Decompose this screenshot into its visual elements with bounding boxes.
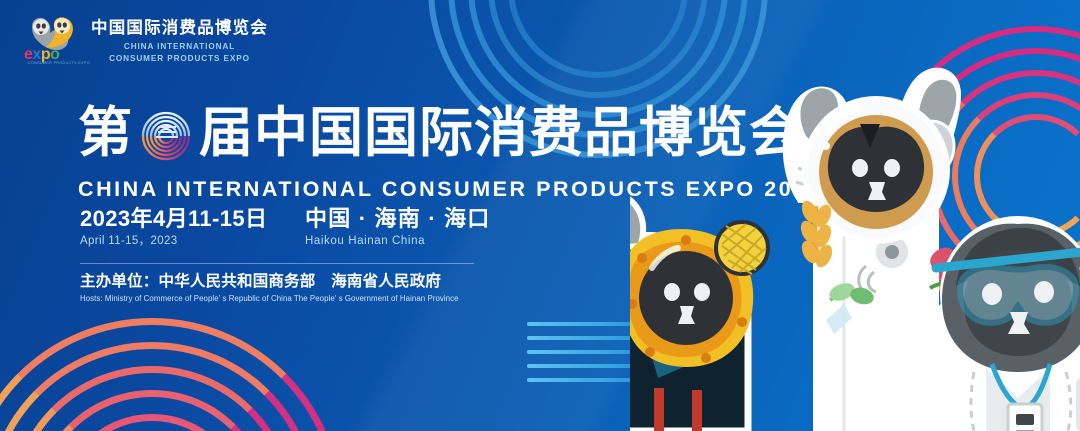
mascot-diver-gold-helmet	[630, 192, 768, 431]
hosts-block: 主办单位：中华人民共和国商务部 海南省人民政府 Hosts: Ministry …	[80, 273, 500, 305]
headline-prefix: 第	[78, 106, 133, 160]
hosts-chinese: 主办单位：中华人民共和国商务部 海南省人民政府	[80, 273, 500, 292]
date-column: 2023年4月11-15日 April 11-15，2023	[80, 206, 305, 249]
pineapple-decor	[716, 222, 768, 274]
logo-english-line2: CONSUMER PRODUCTS EXPO	[91, 53, 268, 65]
logo-text-block: 中国国际消费品博览会 CHINA INTERNATIONAL CONSUMER …	[91, 14, 268, 65]
expo-wordmark-subtext: CONSUMER PRODUCTS EXPO	[28, 61, 90, 65]
expo-mascot-heart-logo: expo CONSUMER PRODUCTS EXPO	[24, 14, 82, 68]
info-divider	[80, 263, 474, 264]
date-english: April 11-15，2023	[80, 234, 305, 249]
expo-logo: expo CONSUMER PRODUCTS EXPO 中国国际消费品博览会 C…	[24, 14, 268, 68]
concentric-warm-arcs	[0, 318, 342, 431]
gibbon-mascots-group	[630, 0, 1080, 431]
date-place-row: 2023年4月11-15日 April 11-15，2023 中国 · 海南 ·…	[80, 206, 500, 249]
logo-chinese-name: 中国国际消费品博览会	[91, 19, 268, 38]
date-chinese: 2023年4月11-15日	[80, 206, 305, 232]
info-block: 2023年4月11-15日 April 11-15，2023 中国 · 海南 ·…	[80, 206, 500, 305]
ordinal-three-emblem	[135, 96, 197, 170]
place-english: Haikou Hainan China	[305, 234, 491, 249]
expo-banner: expo CONSUMER PRODUCTS EXPO 中国国际消费品博览会 C…	[0, 0, 1080, 431]
hosts-english: Hosts: Ministry of Commerce of People' s…	[80, 294, 500, 304]
place-column: 中国 · 海南 · 海口 Haikou Hainan China	[305, 206, 491, 249]
logo-english-line1: CHINA INTERNATIONAL	[91, 41, 268, 53]
place-chinese: 中国 · 海南 · 海口	[305, 206, 491, 232]
logo-english-name: CHINA INTERNATIONAL CONSUMER PRODUCTS EX…	[91, 41, 268, 65]
mascot-scientist-goggles	[930, 216, 1080, 431]
wheat-sprig	[798, 198, 836, 270]
